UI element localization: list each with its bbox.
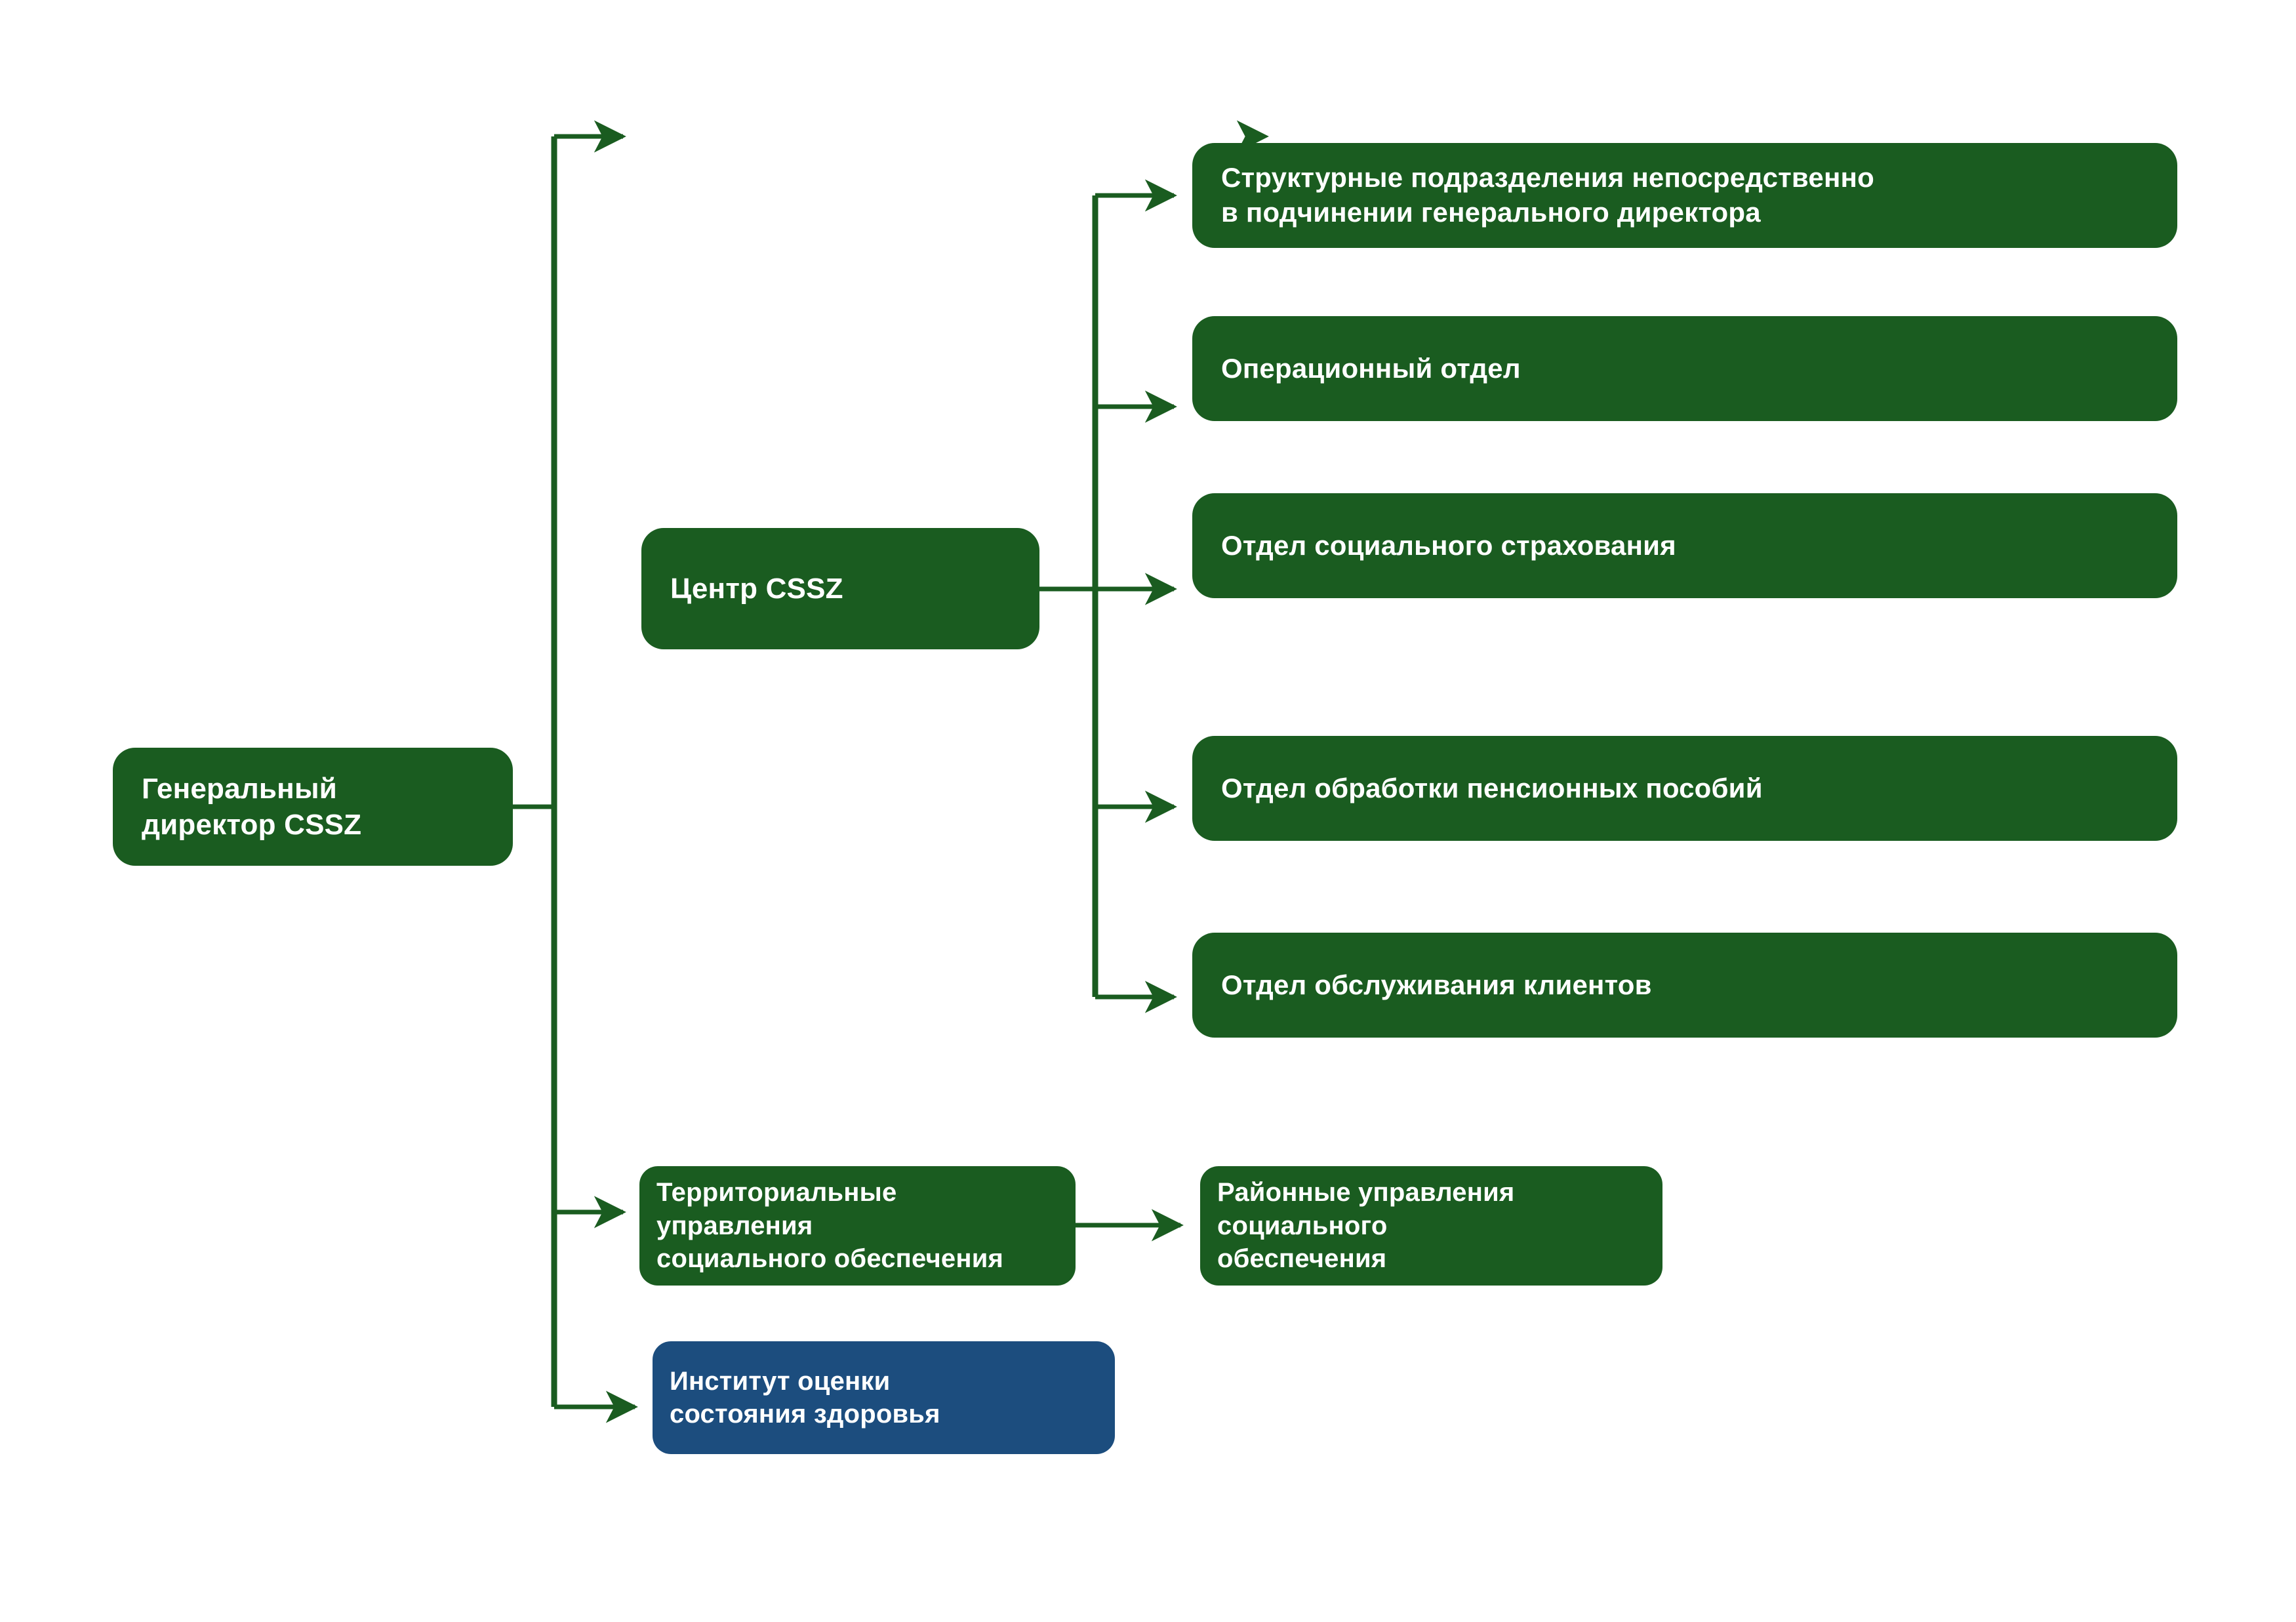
center-connector-group <box>1039 195 1095 997</box>
node-health-assessment-institute-line-1: Институт оценки <box>670 1365 1098 1398</box>
node-operations-department-line-1: Операционный отдел <box>1221 352 2148 386</box>
org-chart-canvas: Генеральный директор CSSZ Центр CSSZ Стр… <box>0 0 2296 1622</box>
node-health-assessment-institute[interactable]: Институт оценки состояния здоровья <box>653 1341 1115 1454</box>
node-center-cssz-line-1: Центр CSSZ <box>670 571 1011 607</box>
node-pension-processing-department[interactable]: Отдел обработки пенсионных пособий <box>1192 736 2177 841</box>
node-structural-units-line-1: Структурные подразделения непосредственн… <box>1221 161 2148 195</box>
node-general-director-line-2: директор CSSZ <box>142 807 484 843</box>
node-regional-administrations[interactable]: Районные управления социального обеспече… <box>1200 1166 1662 1286</box>
node-territorial-administrations[interactable]: Территориальные управления социального о… <box>639 1166 1076 1286</box>
node-territorial-administrations-line-1: Территориальные <box>656 1176 1058 1209</box>
node-regional-administrations-line-2: социального <box>1217 1209 1645 1242</box>
node-structural-units[interactable]: Структурные подразделения непосредственн… <box>1192 143 2177 248</box>
node-operations-department[interactable]: Операционный отдел <box>1192 316 2177 421</box>
node-social-insurance-department[interactable]: Отдел социального страхования <box>1192 493 2177 598</box>
node-regional-administrations-line-1: Районные управления <box>1217 1176 1645 1209</box>
node-center-cssz[interactable]: Центр CSSZ <box>641 528 1039 649</box>
node-regional-administrations-line-3: обеспечения <box>1217 1242 1645 1275</box>
node-general-director[interactable]: Генеральный директор CSSZ <box>113 748 513 866</box>
node-structural-units-line-2: в подчинении генерального директора <box>1221 195 2148 230</box>
node-social-insurance-department-line-1: Отдел социального страхования <box>1221 529 2148 563</box>
node-general-director-line-1: Генеральный <box>142 771 484 807</box>
node-health-assessment-institute-line-2: состояния здоровья <box>670 1398 1098 1430</box>
node-client-service-department-line-1: Отдел обслуживания клиентов <box>1221 968 2148 1003</box>
node-client-service-department[interactable]: Отдел обслуживания клиентов <box>1192 933 2177 1038</box>
node-territorial-administrations-line-2: управления <box>656 1209 1058 1242</box>
node-pension-processing-department-line-1: Отдел обработки пенсионных пособий <box>1221 771 2148 806</box>
node-territorial-administrations-line-3: социального обеспечения <box>656 1242 1058 1275</box>
